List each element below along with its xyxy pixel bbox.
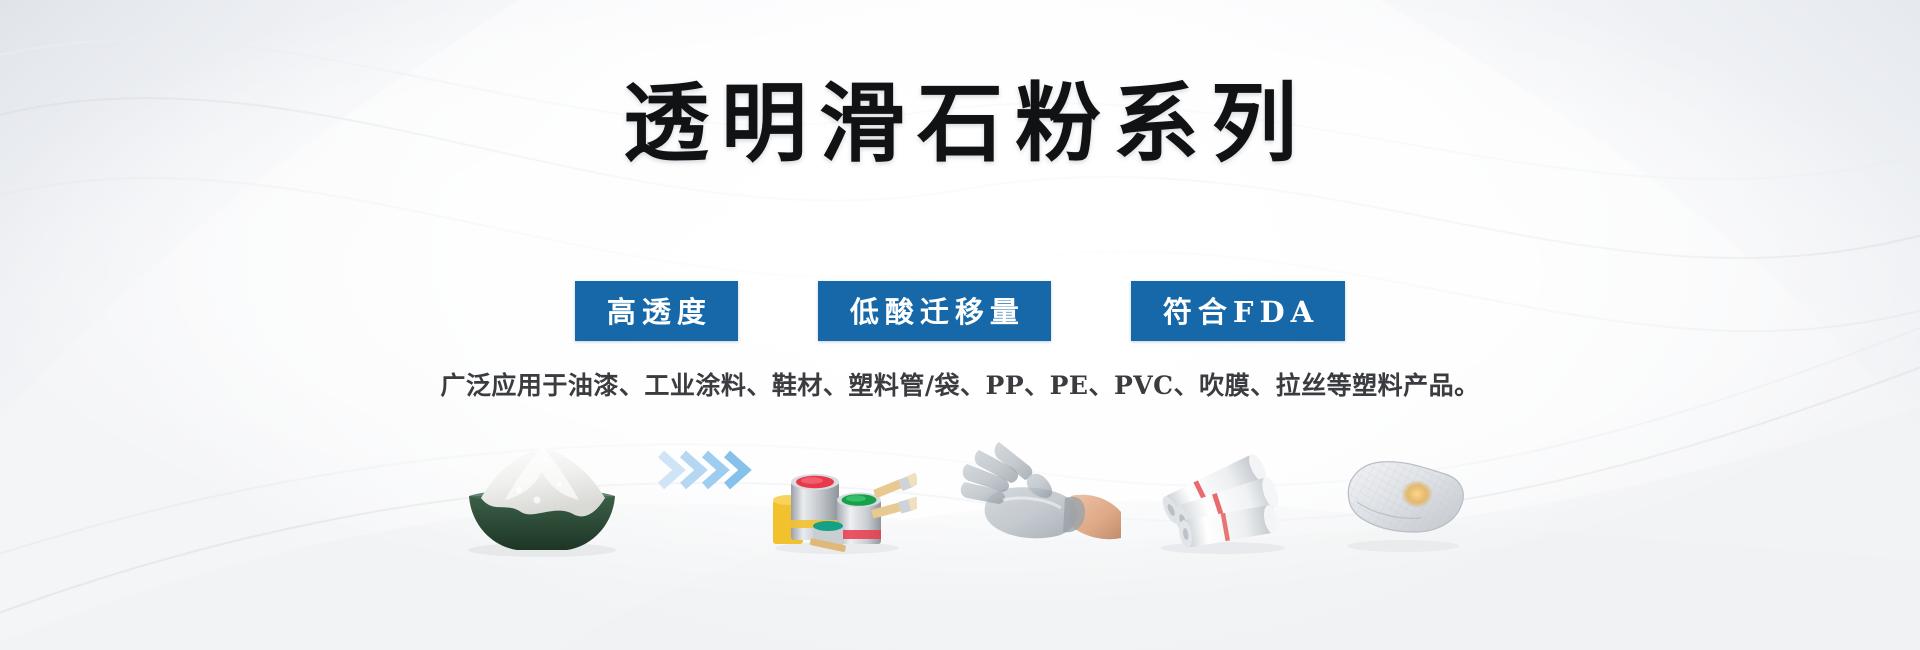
paint-cans-icon bbox=[767, 438, 917, 558]
talc-powder-bowl-icon bbox=[447, 438, 637, 558]
feature-badge-low-acid-migration[interactable]: 低酸迁移量 bbox=[818, 281, 1051, 341]
feature-badge-list: 高透度 低酸迁移量 符合FDA bbox=[0, 281, 1920, 341]
feature-badge-fda-compliant[interactable]: 符合FDA bbox=[1131, 281, 1345, 341]
banner-title: 透明滑石粉系列 bbox=[0, 78, 1920, 169]
plastic-film-rolls-icon bbox=[1151, 438, 1301, 558]
shoe-sole-icon bbox=[1333, 438, 1473, 558]
feature-badge-high-transparency[interactable]: 高透度 bbox=[575, 281, 738, 341]
banner-subtitle: 广泛应用于油漆、工业涂料、鞋材、塑料管/袋、PP、PE、PVC、吹膜、拉丝等塑料… bbox=[0, 366, 1920, 402]
process-arrows-icon bbox=[653, 408, 757, 528]
product-banner: 透明滑石粉系列 高透度 低酸迁移量 符合FDA 广泛应用于油漆、工业涂料、鞋材、… bbox=[0, 0, 1920, 650]
product-image-row bbox=[0, 418, 1920, 558]
gloved-hand-icon bbox=[953, 438, 1123, 558]
